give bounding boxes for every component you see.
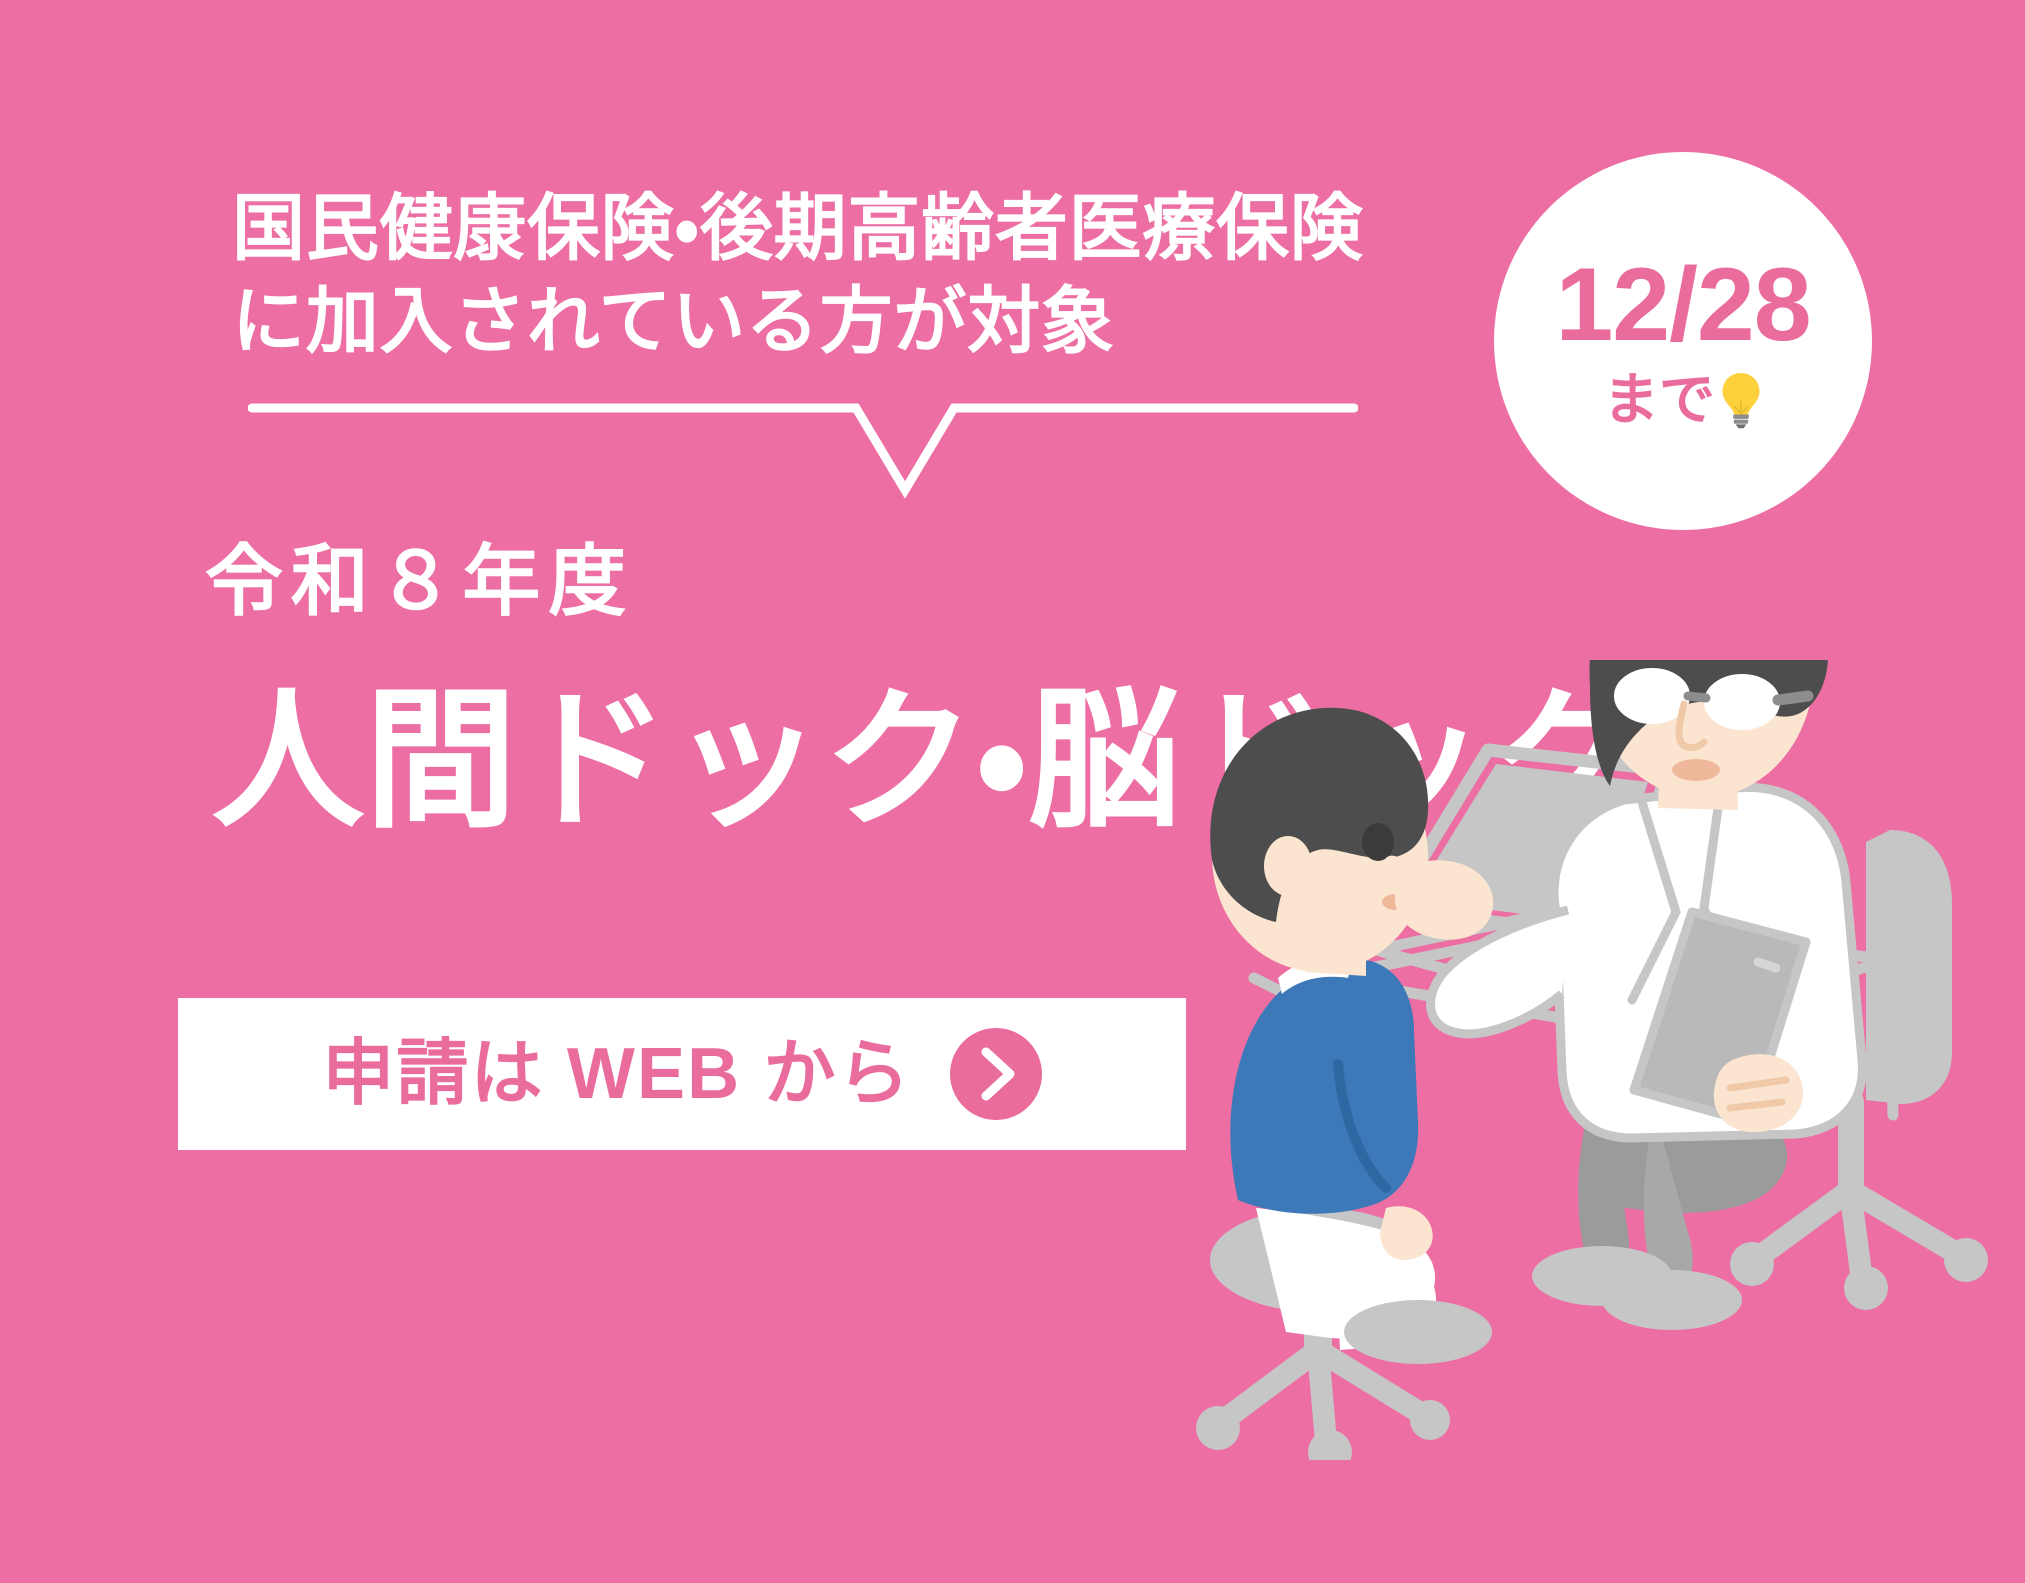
chevron-right-icon bbox=[950, 1028, 1042, 1120]
fiscal-year-label: 令和８年度 bbox=[205, 542, 634, 620]
apply-web-button-label: 申請は WEB から bbox=[322, 1038, 912, 1110]
deadline-sub: まで bbox=[1603, 371, 1763, 429]
lightbulb-icon bbox=[1719, 371, 1763, 429]
deadline-badge: 12/28 まで bbox=[1494, 152, 1872, 530]
apply-web-button[interactable]: 申請は WEB から bbox=[178, 998, 1186, 1150]
promo-banner: 国民健康保険・後期高齢者医療保険 に加入されている方が対象 12/28 まで bbox=[0, 0, 2025, 1583]
divider-with-notch bbox=[248, 400, 1358, 500]
doctor-patient-illustration bbox=[1190, 660, 2025, 1460]
eligibility-heading: 国民健康保険・後期高齢者医療保険 に加入されている方が対象 bbox=[232, 182, 1412, 369]
deadline-until-label: まで bbox=[1603, 372, 1715, 428]
deadline-date: 12/28 bbox=[1555, 253, 1810, 357]
